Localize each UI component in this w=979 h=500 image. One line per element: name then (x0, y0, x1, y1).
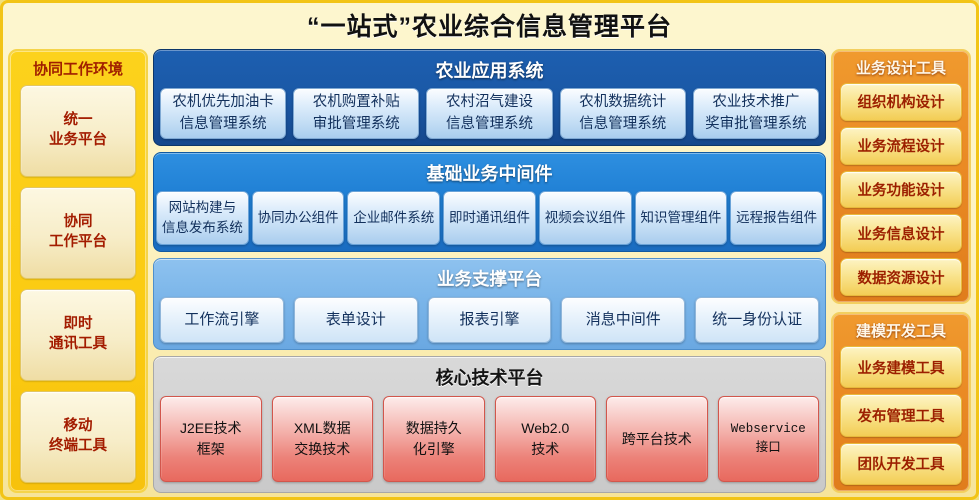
sidebar-group-items: 业务建模工具 发布管理工具 团队开发工具 (840, 346, 962, 485)
sidebar-group-title: 建模开发工具 (840, 317, 962, 346)
card-line-1: 即时通讯组件 (449, 208, 530, 228)
card-knowledge-management-component[interactable]: 知识管理组件 (635, 191, 728, 245)
section-items: 工作流引擎 表单设计 报表引擎 消息中间件 统一身份认证 (160, 297, 819, 343)
card-line-1: 网站构建与 (169, 198, 237, 218)
card-line-1: 协同办公组件 (258, 208, 339, 228)
item-line-1: 即时 (64, 315, 93, 335)
sidebar-group-items: 统一 业务平台 协同 工作平台 即时 通讯工具 移动 终端工具 (20, 85, 136, 483)
item-line-1: 统一 (64, 111, 93, 131)
section-business-support-platform: 业务支撑平台 工作流引擎 表单设计 报表引擎 消息中间件 统一身 (153, 258, 826, 350)
card-line-1: 工作流引擎 (184, 309, 259, 331)
card-website-build-and-publish-system[interactable]: 网站构建与 信息发布系统 (156, 191, 249, 245)
item-line-2: 业务平台 (49, 131, 107, 151)
section-title: 农业应用系统 (160, 54, 819, 88)
card-line-2: 信息管理系统 (446, 114, 533, 135)
sidebar-item-release-management-tool[interactable]: 发布管理工具 (840, 394, 962, 436)
sidebar-item-team-development-tool[interactable]: 团队开发工具 (840, 443, 962, 485)
left-sidebar: 协同工作环境 统一 业务平台 协同 工作平台 即时 通讯工具 (8, 49, 148, 493)
right-sidebar: 业务设计工具 组织机构设计 业务流程设计 业务功能设计 业务信息设计 数据资源设… (831, 49, 971, 493)
card-line-1: Webservice (731, 420, 806, 439)
card-line-1: 农机优先加油卡 (172, 92, 274, 113)
item-line-1: 移动 (64, 417, 93, 437)
card-line-2: 技术 (531, 439, 559, 460)
section-title: 业务支撑平台 (160, 263, 819, 297)
card-line-1: 远程报告组件 (736, 208, 817, 228)
section-agriculture-application-systems: 农业应用系统 农机优先加油卡 信息管理系统 农机购置补贴 审批管理系统 农村沼气… (153, 49, 826, 146)
card-message-middleware[interactable]: 消息中间件 (561, 297, 685, 343)
sidebar-group-collaborative-environment: 协同工作环境 统一 业务平台 协同 工作平台 即时 通讯工具 (8, 49, 148, 493)
card-collaborative-office-component[interactable]: 协同办公组件 (252, 191, 345, 245)
sidebar-group-modeling-development-tools: 建模开发工具 业务建模工具 发布管理工具 团队开发工具 (831, 312, 971, 493)
card-machinery-purchase-subsidy-system[interactable]: 农机购置补贴 审批管理系统 (293, 88, 419, 139)
section-title: 基础业务中间件 (156, 157, 823, 191)
sidebar-item-data-resource-design[interactable]: 数据资源设计 (840, 258, 962, 296)
card-unified-identity-authentication[interactable]: 统一身份认证 (695, 297, 819, 343)
sidebar-item-org-structure-design[interactable]: 组织机构设计 (840, 83, 962, 121)
sidebar-item-business-process-design[interactable]: 业务流程设计 (840, 127, 962, 165)
card-line-1: 企业邮件系统 (353, 208, 434, 228)
section-title: 核心技术平台 (160, 361, 819, 396)
card-line-2: 信息发布系统 (162, 218, 243, 238)
card-line-2: 接口 (756, 439, 781, 458)
card-line-1: 农业技术推广 (712, 92, 799, 113)
center-stack: 农业应用系统 农机优先加油卡 信息管理系统 农机购置补贴 审批管理系统 农村沼气… (153, 49, 826, 493)
sidebar-item-mobile-terminal-tool[interactable]: 移动 终端工具 (20, 391, 136, 483)
diagram-body: 协同工作环境 统一 业务平台 协同 工作平台 即时 通讯工具 (8, 49, 971, 493)
card-line-2: 框架 (197, 439, 225, 460)
card-xml-data-exchange[interactable]: XML数据 交换技术 (272, 396, 374, 482)
page-title: “一站式”农业综合信息管理平台 (307, 7, 672, 43)
card-technology-extension-award-system[interactable]: 农业技术推广 奖审批管理系统 (693, 88, 819, 139)
item-line-2: 通讯工具 (49, 335, 107, 355)
card-form-design[interactable]: 表单设计 (294, 297, 418, 343)
card-video-conference-component[interactable]: 视频会议组件 (539, 191, 632, 245)
card-instant-messaging-component[interactable]: 即时通讯组件 (443, 191, 536, 245)
card-line-1: 农村沼气建设 (446, 92, 533, 113)
sidebar-item-collaborative-work-platform[interactable]: 协同 工作平台 (20, 187, 136, 279)
sidebar-item-instant-messaging-tool[interactable]: 即时 通讯工具 (20, 289, 136, 381)
card-rural-biogas-construction-system[interactable]: 农村沼气建设 信息管理系统 (426, 88, 552, 139)
sidebar-group-business-design-tools: 业务设计工具 组织机构设计 业务流程设计 业务功能设计 业务信息设计 数据资源设… (831, 49, 971, 304)
section-core-technology-platform: 核心技术平台 J2EE技术 框架 XML数据 交换技术 数据持久 化引擎 (153, 356, 826, 493)
item-line-2: 工作平台 (49, 233, 107, 253)
card-report-engine[interactable]: 报表引擎 (428, 297, 552, 343)
card-line-2: 奖审批管理系统 (705, 114, 807, 135)
card-line-2: 化引擎 (413, 439, 455, 460)
card-fuel-card-system[interactable]: 农机优先加油卡 信息管理系统 (160, 88, 286, 139)
card-j2ee-framework[interactable]: J2EE技术 框架 (160, 396, 262, 482)
sidebar-item-unified-business-platform[interactable]: 统一 业务平台 (20, 85, 136, 177)
section-items: 网站构建与 信息发布系统 协同办公组件 企业邮件系统 即时通讯组件 视频会议组件 (156, 191, 823, 245)
card-line-1: 表单设计 (326, 309, 386, 331)
sidebar-group-title: 协同工作环境 (20, 56, 136, 85)
page-title-bar: “一站式”农业综合信息管理平台 (3, 3, 976, 47)
card-web20-technology[interactable]: Web2.0 技术 (495, 396, 597, 482)
card-line-1: 消息中间件 (586, 309, 661, 331)
card-line-1: 统一身份认证 (712, 309, 802, 331)
card-line-1: 报表引擎 (459, 309, 519, 331)
card-line-1: 知识管理组件 (640, 208, 721, 228)
section-items: J2EE技术 框架 XML数据 交换技术 数据持久 化引擎 Web2.0 技术 (160, 396, 819, 486)
sidebar-group-title: 业务设计工具 (840, 54, 962, 83)
card-enterprise-mail-system[interactable]: 企业邮件系统 (347, 191, 440, 245)
card-line-2: 信息管理系统 (579, 114, 666, 135)
section-items: 农机优先加油卡 信息管理系统 农机购置补贴 审批管理系统 农村沼气建设 信息管理… (160, 88, 819, 139)
card-machinery-data-statistics-system[interactable]: 农机数据统计 信息管理系统 (560, 88, 686, 139)
sidebar-item-business-information-design[interactable]: 业务信息设计 (840, 214, 962, 252)
card-remote-report-component[interactable]: 远程报告组件 (730, 191, 823, 245)
card-line-2: 审批管理系统 (313, 114, 400, 135)
card-line-2: 交换技术 (294, 439, 350, 460)
card-line-1: 农机数据统计 (579, 92, 666, 113)
sidebar-item-business-function-design[interactable]: 业务功能设计 (840, 171, 962, 209)
item-line-1: 协同 (64, 213, 93, 233)
card-line-1: 跨平台技术 (622, 429, 692, 450)
card-webservice-interface[interactable]: Webservice 接口 (718, 396, 820, 482)
card-cross-platform-technology[interactable]: 跨平台技术 (606, 396, 708, 482)
section-basic-business-middleware: 基础业务中间件 网站构建与 信息发布系统 协同办公组件 企业邮件系统 即时通讯组… (153, 152, 826, 252)
diagram-frame: “一站式”农业综合信息管理平台 协同工作环境 统一 业务平台 协同 工作平台 即… (0, 0, 979, 500)
sidebar-group-items: 组织机构设计 业务流程设计 业务功能设计 业务信息设计 数据资源设计 (840, 83, 962, 296)
item-line-2: 终端工具 (49, 437, 107, 457)
card-line-2: 信息管理系统 (180, 114, 267, 135)
card-workflow-engine[interactable]: 工作流引擎 (160, 297, 284, 343)
card-line-1: 农机购置补贴 (313, 92, 400, 113)
card-line-1: 视频会议组件 (545, 208, 626, 228)
card-line-1: XML数据 (294, 418, 351, 439)
card-line-1: 数据持久 (406, 418, 462, 439)
card-line-1: J2EE技术 (180, 418, 241, 439)
card-data-persistence-engine[interactable]: 数据持久 化引擎 (383, 396, 485, 482)
sidebar-item-business-modeling-tool[interactable]: 业务建模工具 (840, 346, 962, 388)
card-line-1: Web2.0 (521, 418, 569, 439)
